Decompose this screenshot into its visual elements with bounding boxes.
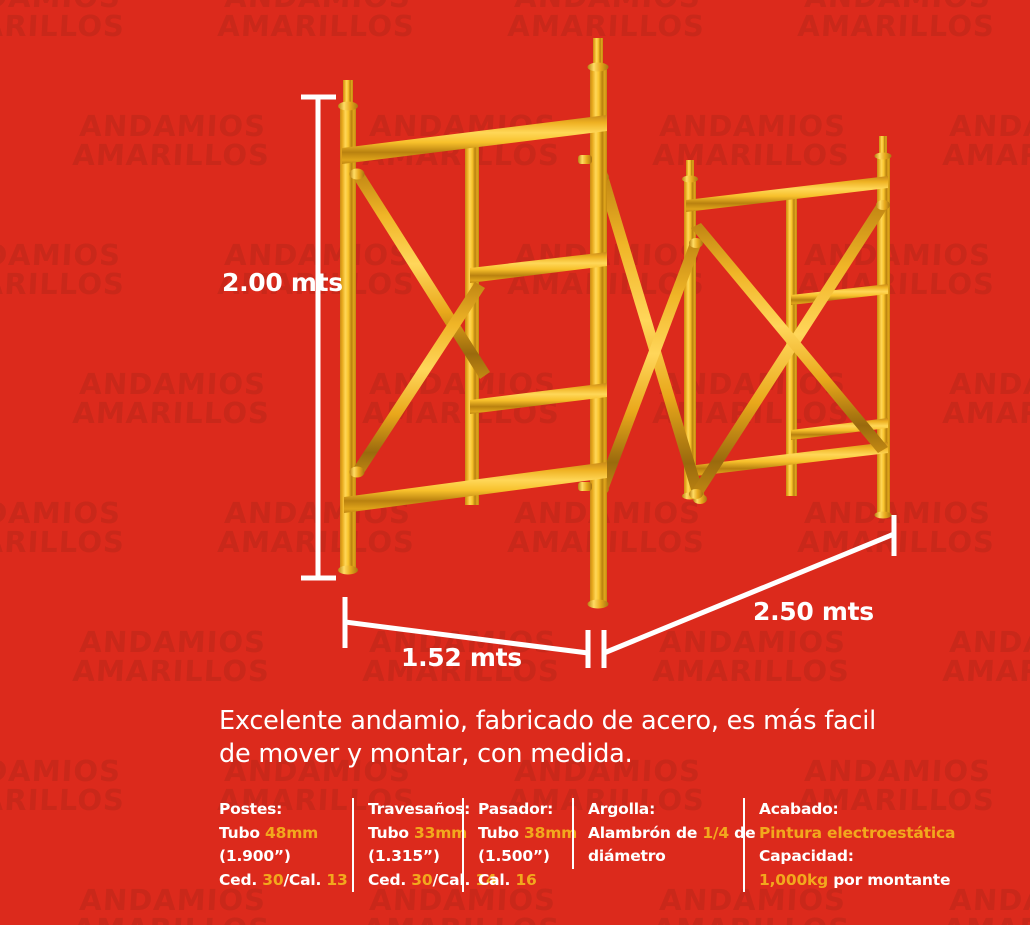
spec-highlight: 16	[515, 871, 536, 889]
spec-highlight: 1,000kg	[759, 871, 828, 889]
spec-title: Argolla:	[588, 798, 733, 822]
description-line-1: Excelente andamio, fabricado de acero, e…	[219, 705, 899, 738]
spec-text: Ced.	[368, 871, 411, 889]
spec-text: Tubo	[219, 824, 265, 842]
spec-highlight: 30	[411, 871, 432, 889]
spec-title: Postes:	[219, 798, 342, 822]
spec-value-line: (1.315”)	[368, 845, 452, 869]
spec-text: Alambrón de	[588, 824, 702, 842]
spec-text: diámetro	[588, 847, 666, 865]
description-line-2: de mover y montar, con medida.	[219, 738, 899, 771]
spec-highlight: 30	[262, 871, 283, 889]
dimension-label-depth: 2.50 mts	[753, 597, 874, 626]
spec-value-line: Capacidad:	[759, 845, 943, 869]
spec-text: Cal.	[478, 871, 515, 889]
spec-value-line: diámetro	[588, 845, 733, 869]
spec-highlight: 1/4	[702, 824, 729, 842]
spec-text: por montante	[828, 871, 950, 889]
spec-text: Ced.	[219, 871, 262, 889]
spec-text: Tubo	[478, 824, 524, 842]
spec-title: Pasador:	[478, 798, 562, 822]
spec-text: (1.500”)	[478, 847, 550, 865]
spec-highlight: 33mm	[414, 824, 467, 842]
spec-highlight: 48mm	[265, 824, 318, 842]
spec-highlight: 38mm	[524, 824, 577, 842]
spec-text: (1.900”)	[219, 847, 291, 865]
dimension-label-width: 1.52 mts	[401, 643, 522, 672]
spec-value-line: Ced. 30/Cal. 14	[368, 869, 452, 893]
product-description: Excelente andamio, fabricado de acero, e…	[219, 705, 899, 771]
spec-value-line: (1.900”)	[219, 845, 342, 869]
spec-value-line: Tubo 38mm	[478, 822, 562, 846]
spec-value-line: Cal. 16	[478, 869, 562, 893]
spec-column-argolla: Argolla:Alambrón de 1/4 dediámetro	[572, 798, 743, 869]
spec-column-pasador: Pasador:Tubo 38mm(1.500”)Cal. 16	[462, 798, 572, 892]
spec-text: (1.315”)	[368, 847, 440, 865]
spec-highlight: Pintura electroestática	[759, 824, 955, 842]
dimension-label-height: 2.00 mts	[222, 268, 343, 297]
spec-value-line: Tubo 33mm	[368, 822, 452, 846]
spec-column-travesaños: Travesaños:Tubo 33mm(1.315”)Ced. 30/Cal.…	[352, 798, 462, 892]
spec-value-line: 1,000kg por montante	[759, 869, 943, 893]
spec-table: Postes:Tubo 48mm(1.900”)Ced. 30/Cal. 13T…	[219, 798, 1009, 890]
spec-value-line: Pintura electroestática	[759, 822, 943, 846]
spec-title: Acabado:	[759, 798, 943, 822]
poster-canvas: ANDAMIOSAMARILLOSANDAMIOSAMARILLOSANDAMI…	[0, 0, 1030, 925]
spec-value-line: Alambrón de 1/4 de	[588, 822, 733, 846]
spec-value-line: Tubo 48mm	[219, 822, 342, 846]
spec-title: Travesaños:	[368, 798, 452, 822]
spec-highlight: 13	[326, 871, 347, 889]
spec-text: Tubo	[368, 824, 414, 842]
spec-text: Capacidad:	[759, 847, 854, 865]
spec-text: /Cal.	[283, 871, 326, 889]
spec-column-postes: Postes:Tubo 48mm(1.900”)Ced. 30/Cal. 13	[219, 798, 352, 892]
dimension-lines	[0, 0, 1030, 925]
spec-value-line: (1.500”)	[478, 845, 562, 869]
spec-column-acabado: Acabado:Pintura electroestáticaCapacidad…	[743, 798, 953, 892]
spec-value-line: Ced. 30/Cal. 13	[219, 869, 342, 893]
